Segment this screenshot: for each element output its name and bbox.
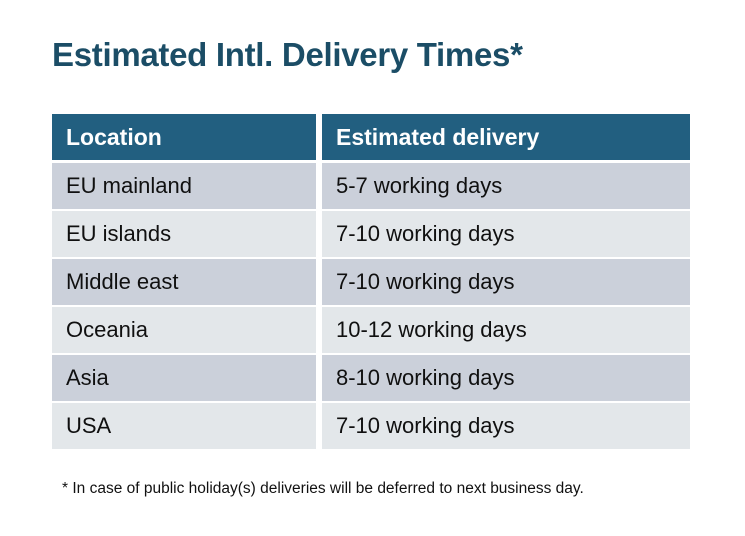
cell-location: USA <box>52 403 316 449</box>
page-title: Estimated Intl. Delivery Times* <box>52 36 523 74</box>
column-header-estimated-delivery: Estimated delivery <box>322 114 690 160</box>
table-row: USA 7-10 working days <box>52 403 690 449</box>
cell-location: EU mainland <box>52 163 316 209</box>
cell-location: Asia <box>52 355 316 401</box>
column-header-location: Location <box>52 114 316 160</box>
cell-delivery: 7-10 working days <box>322 211 690 257</box>
table-row: Middle east 7-10 working days <box>52 259 690 305</box>
delivery-times-table: Location Estimated delivery EU mainland … <box>52 114 690 451</box>
table-row: Asia 8-10 working days <box>52 355 690 401</box>
table-row: EU mainland 5-7 working days <box>52 163 690 209</box>
table-row: EU islands 7-10 working days <box>52 211 690 257</box>
table-header-row: Location Estimated delivery <box>52 114 690 160</box>
cell-delivery: 10-12 working days <box>322 307 690 353</box>
cell-location: Middle east <box>52 259 316 305</box>
cell-delivery: 5-7 working days <box>322 163 690 209</box>
cell-location: Oceania <box>52 307 316 353</box>
cell-delivery: 8-10 working days <box>322 355 690 401</box>
cell-location: EU islands <box>52 211 316 257</box>
cell-delivery: 7-10 working days <box>322 403 690 449</box>
table-row: Oceania 10-12 working days <box>52 307 690 353</box>
cell-delivery: 7-10 working days <box>322 259 690 305</box>
footnote-text: * In case of public holiday(s) deliverie… <box>62 480 584 498</box>
delivery-times-page: Estimated Intl. Delivery Times* Location… <box>0 0 745 536</box>
